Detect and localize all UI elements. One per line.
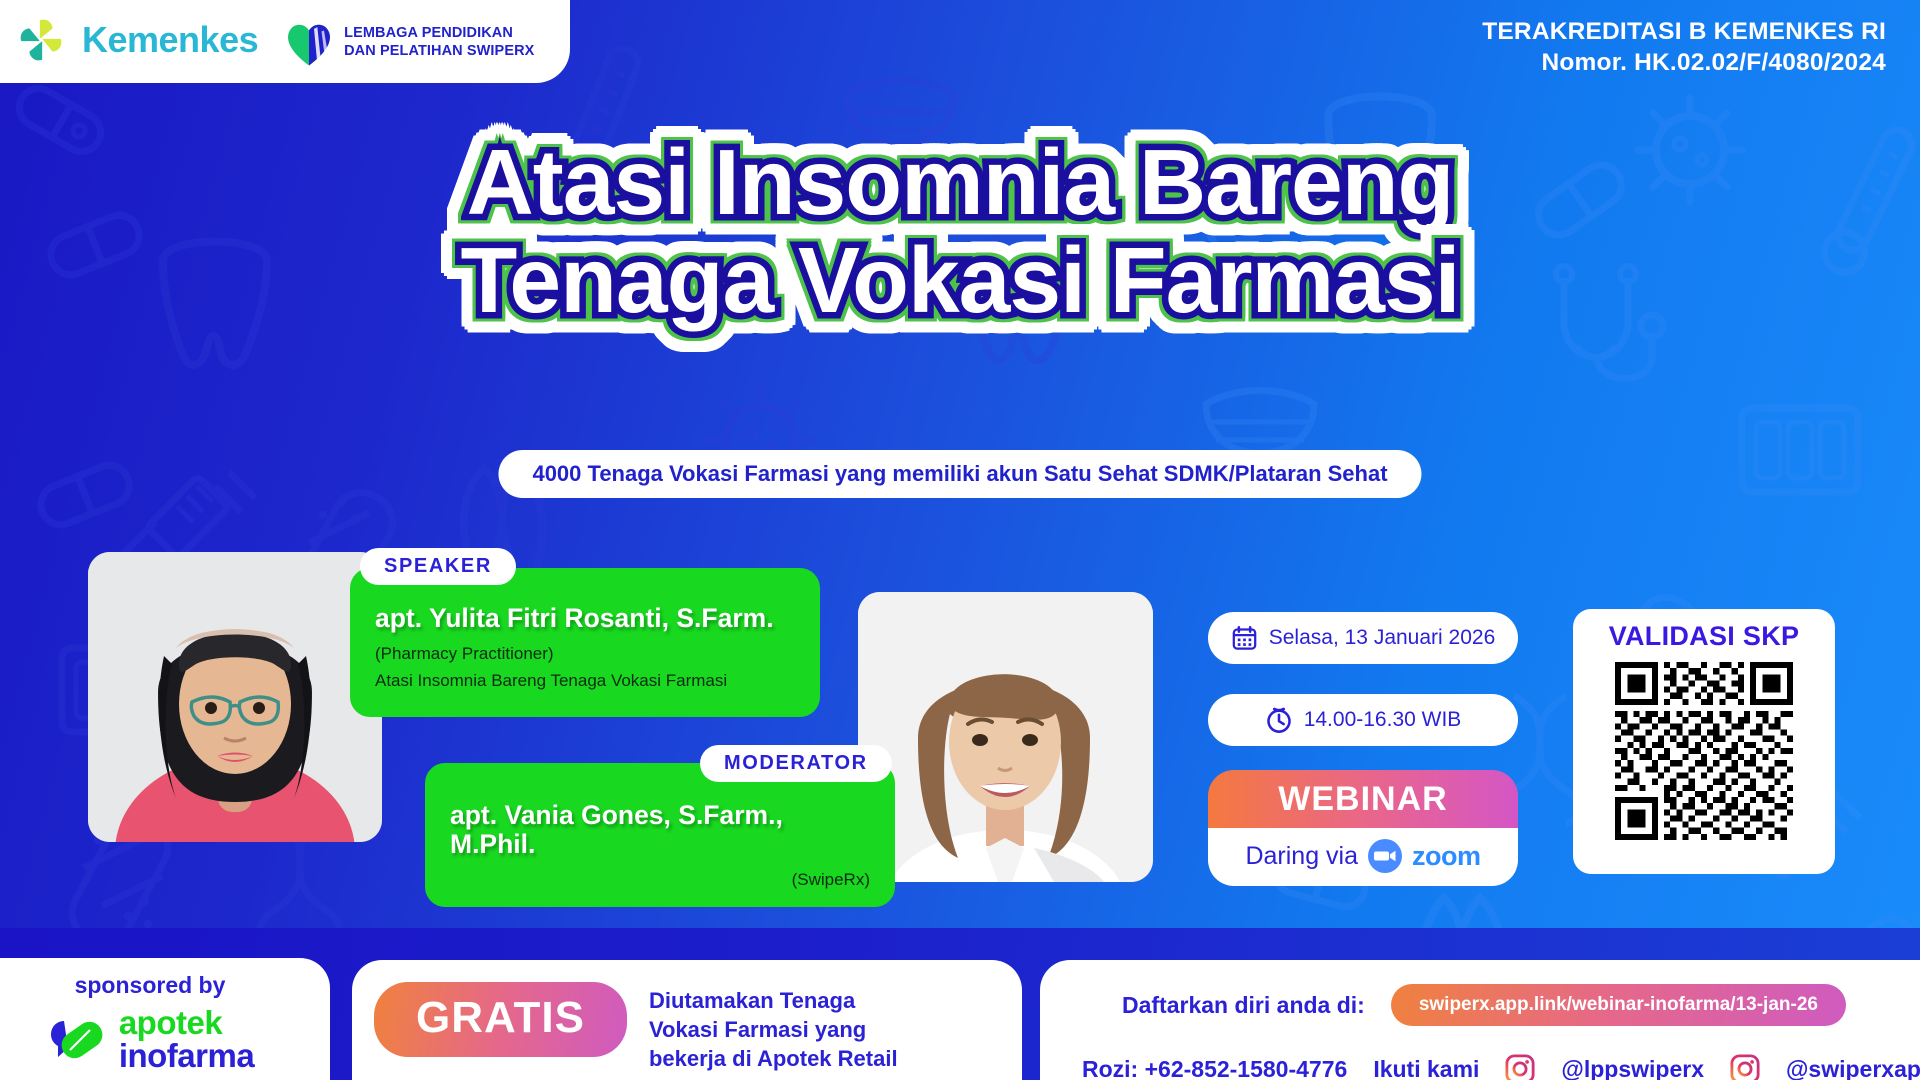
price-note: Diutamakan Tenaga Vokasi Farmasi yang be…: [649, 982, 898, 1073]
price-note-line-2: Vokasi Farmasi yang: [649, 1015, 898, 1044]
event-time-text: 14.00-16.30 WIB: [1304, 708, 1462, 732]
title-line-2: Tenaga Vokasi Farmasi: [450, 232, 1469, 330]
price-note-line-1: Diutamakan Tenaga: [649, 986, 898, 1015]
title-line-1: Atasi Insomnia Bareng: [457, 134, 1464, 232]
kemenkes-mark-icon: [12, 11, 70, 69]
logo-card: Kemenkes LEMBAGA PENDIDIKAN DAN PELATIHA…: [0, 0, 570, 83]
qr-code-image[interactable]: [1615, 662, 1793, 840]
clock-icon: [1265, 706, 1293, 734]
moderator-role-pill: MODERATOR: [700, 745, 892, 782]
webinar-badge: WEBINAR: [1208, 770, 1518, 828]
audience-subtitle: 4000 Tenaga Vokasi Farmasi yang memiliki…: [498, 450, 1421, 498]
event-date-text: Selasa, 13 Januari 2026: [1269, 626, 1496, 650]
accreditation-text: TERAKREDITASI B KEMENKES RI Nomor. HK.02…: [1482, 16, 1886, 79]
moderator-portrait-illustration: [858, 592, 1153, 882]
webinar-platform-block: WEBINAR Daring via zoom: [1208, 770, 1518, 886]
speaker-topic: Atasi Insomnia Bareng Tenaga Vokasi Farm…: [375, 669, 820, 694]
validation-qr-card: VALIDASI SKP: [1573, 609, 1835, 874]
accreditation-line-1: TERAKREDITASI B KEMENKES RI: [1482, 16, 1886, 47]
webinar-poster: Kemenkes LEMBAGA PENDIDIKAN DAN PELATIHA…: [0, 0, 1920, 1080]
moderator-photo: [858, 592, 1153, 882]
poster-title: Atasi Insomnia Bareng Tenaga Vokasi Farm…: [0, 134, 1920, 329]
platform-row: Daring via zoom: [1208, 828, 1518, 886]
zoom-wordmark: zoom: [1412, 841, 1481, 872]
platform-prefix: Daring via: [1245, 842, 1358, 871]
price-card: GRATIS Diutamakan Tenaga Vokasi Farmasi …: [352, 960, 1022, 1080]
gratis-badge: GRATIS: [374, 982, 627, 1057]
lpp-heart-icon: [284, 17, 334, 69]
contact-phone: Rozi: +62-852-1580-4776: [1082, 1056, 1347, 1080]
speaker-info-card: apt. Yulita Fitri Rosanti, S.Farm. (Phar…: [350, 568, 820, 717]
instagram-icon[interactable]: [1730, 1054, 1760, 1080]
speaker-photo: [88, 552, 382, 842]
moderator-name: apt. Vania Gones, S.Farm., M.Phil.: [450, 801, 870, 859]
lpp-line-1: LEMBAGA PENDIDIKAN: [344, 25, 534, 43]
zoom-camera-icon: [1368, 839, 1402, 873]
inofarma-wordmark: apotek inofarma: [119, 1006, 254, 1072]
kemenkes-logo: Kemenkes: [12, 11, 258, 69]
inofarma-pill-icon: [46, 1017, 110, 1061]
accreditation-line-2: Nomor. HK.02.02/F/4080/2024: [1482, 47, 1886, 78]
sponsor-card: sponsored by apotek inofarma: [0, 958, 330, 1080]
inofarma-word-2: inofarma: [119, 1039, 254, 1072]
calendar-icon: [1231, 625, 1258, 652]
registration-card: Daftarkan diri anda di: swiperx.app.link…: [1040, 960, 1920, 1080]
follow-label: Ikuti kami: [1373, 1056, 1479, 1080]
price-note-line-3: bekerja di Apotek Retail: [649, 1044, 898, 1073]
register-link-badge[interactable]: swiperx.app.link/webinar-inofarma/13-jan…: [1391, 984, 1846, 1026]
speaker-role-pill: SPEAKER: [360, 548, 516, 585]
lpp-line-2: DAN PELATIHAN SWIPERX: [344, 43, 534, 61]
speaker-affiliation: (Pharmacy Practitioner): [375, 642, 820, 667]
instagram-handle-2[interactable]: @swiperxapp: [1786, 1056, 1920, 1080]
moderator-info-card: apt. Vania Gones, S.Farm., M.Phil. (Swip…: [425, 763, 895, 907]
register-label: Daftarkan diri anda di:: [1122, 992, 1365, 1019]
speaker-portrait-illustration: [88, 552, 382, 842]
event-time-pill: 14.00-16.30 WIB: [1208, 694, 1518, 746]
lpp-wordmark: LEMBAGA PENDIDIKAN DAN PELATIHAN SWIPERX: [344, 25, 534, 60]
qr-card-title: VALIDASI SKP: [1609, 621, 1800, 652]
contact-and-social-row: Rozi: +62-852-1580-4776 Ikuti kami @lpps…: [1040, 1054, 1920, 1080]
lpp-swiperx-logo: LEMBAGA PENDIDIKAN DAN PELATIHAN SWIPERX: [284, 17, 534, 69]
event-date-pill: Selasa, 13 Januari 2026: [1208, 612, 1518, 664]
instagram-icon[interactable]: [1505, 1054, 1535, 1080]
inofarma-word-1: apotek: [119, 1006, 254, 1039]
registration-row: Daftarkan diri anda di: swiperx.app.link…: [1040, 984, 1920, 1026]
apotek-inofarma-logo: apotek inofarma: [46, 1006, 254, 1072]
speaker-name: apt. Yulita Fitri Rosanti, S.Farm.: [375, 604, 820, 633]
moderator-affiliation: (SwipeRx): [450, 868, 870, 893]
sponsor-label: sponsored by: [75, 972, 226, 999]
kemenkes-wordmark: Kemenkes: [82, 19, 258, 61]
instagram-handle-1[interactable]: @lppswiperx: [1561, 1056, 1704, 1080]
